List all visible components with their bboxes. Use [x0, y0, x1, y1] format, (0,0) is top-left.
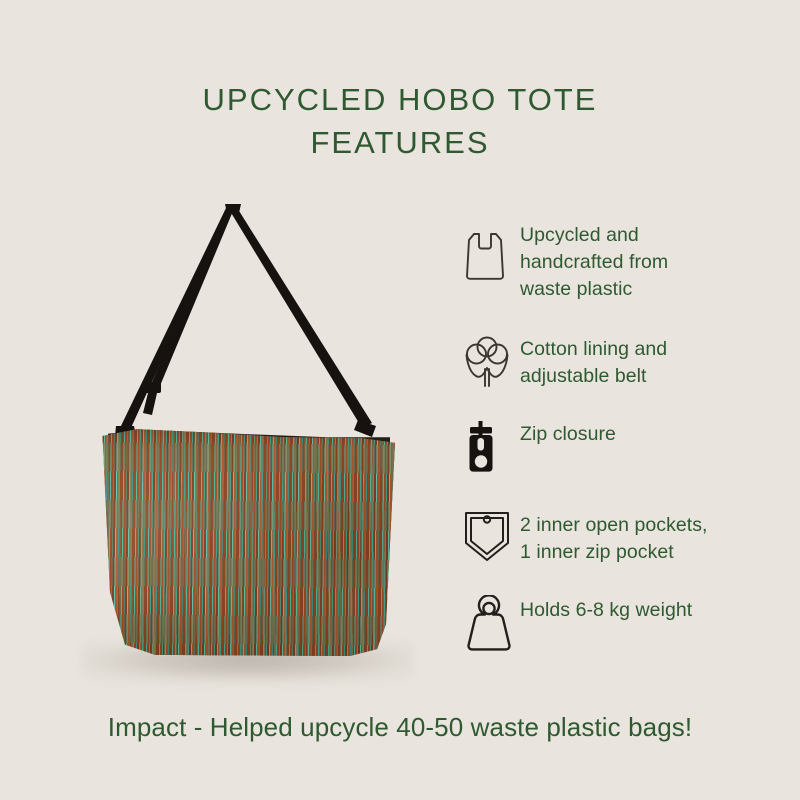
feature-text-inner-pockets: 2 inner open pockets, 1 inner zip pocket: [520, 505, 708, 566]
feature-text-weight-capacity: Holds 6-8 kg weight: [520, 593, 692, 624]
feature-line: 2 inner open pockets,: [520, 512, 708, 539]
feature-line: Zip closure: [520, 421, 616, 448]
feature-line: Cotton lining and: [520, 336, 667, 363]
impact-statement: Impact - Helped upcycle 40-50 waste plas…: [0, 712, 800, 743]
weight-icon: [462, 593, 520, 655]
features-list: Upcycled and handcrafted from waste plas…: [462, 222, 762, 681]
bag-body: [98, 428, 398, 656]
feature-item-upcycled: Upcycled and handcrafted from waste plas…: [462, 222, 762, 303]
feature-line: Upcycled and: [520, 222, 668, 249]
feature-text-cotton-lining: Cotton lining and adjustable belt: [520, 329, 667, 390]
pocket-icon: [462, 505, 520, 567]
feature-line: waste plastic: [520, 276, 668, 303]
feature-item-cotton-lining: Cotton lining and adjustable belt: [462, 329, 762, 391]
feature-line: Holds 6-8 kg weight: [520, 597, 692, 624]
product-photo: [60, 180, 440, 690]
page-title-line-1: UPCYCLED HOBO TOTE: [0, 78, 800, 121]
cotton-boll-icon: [462, 329, 520, 391]
feature-text-zip-closure: Zip closure: [520, 417, 616, 448]
zipper-icon: [462, 417, 520, 479]
infographic-canvas: UPCYCLED HOBO TOTE FEATURES: [0, 0, 800, 800]
feature-line: adjustable belt: [520, 363, 667, 390]
feature-item-weight-capacity: Holds 6-8 kg weight: [462, 593, 762, 655]
feature-item-zip-closure: Zip closure: [462, 417, 762, 479]
feature-line: handcrafted from: [520, 249, 668, 276]
bag-woven-texture: [98, 428, 398, 656]
feature-text-upcycled: Upcycled and handcrafted from waste plas…: [520, 222, 668, 303]
feature-line: 1 inner zip pocket: [520, 539, 708, 566]
page-title: UPCYCLED HOBO TOTE FEATURES: [0, 78, 800, 164]
plastic-bag-icon: [462, 222, 520, 284]
feature-item-inner-pockets: 2 inner open pockets, 1 inner zip pocket: [462, 505, 762, 567]
page-title-line-2: FEATURES: [0, 121, 800, 164]
